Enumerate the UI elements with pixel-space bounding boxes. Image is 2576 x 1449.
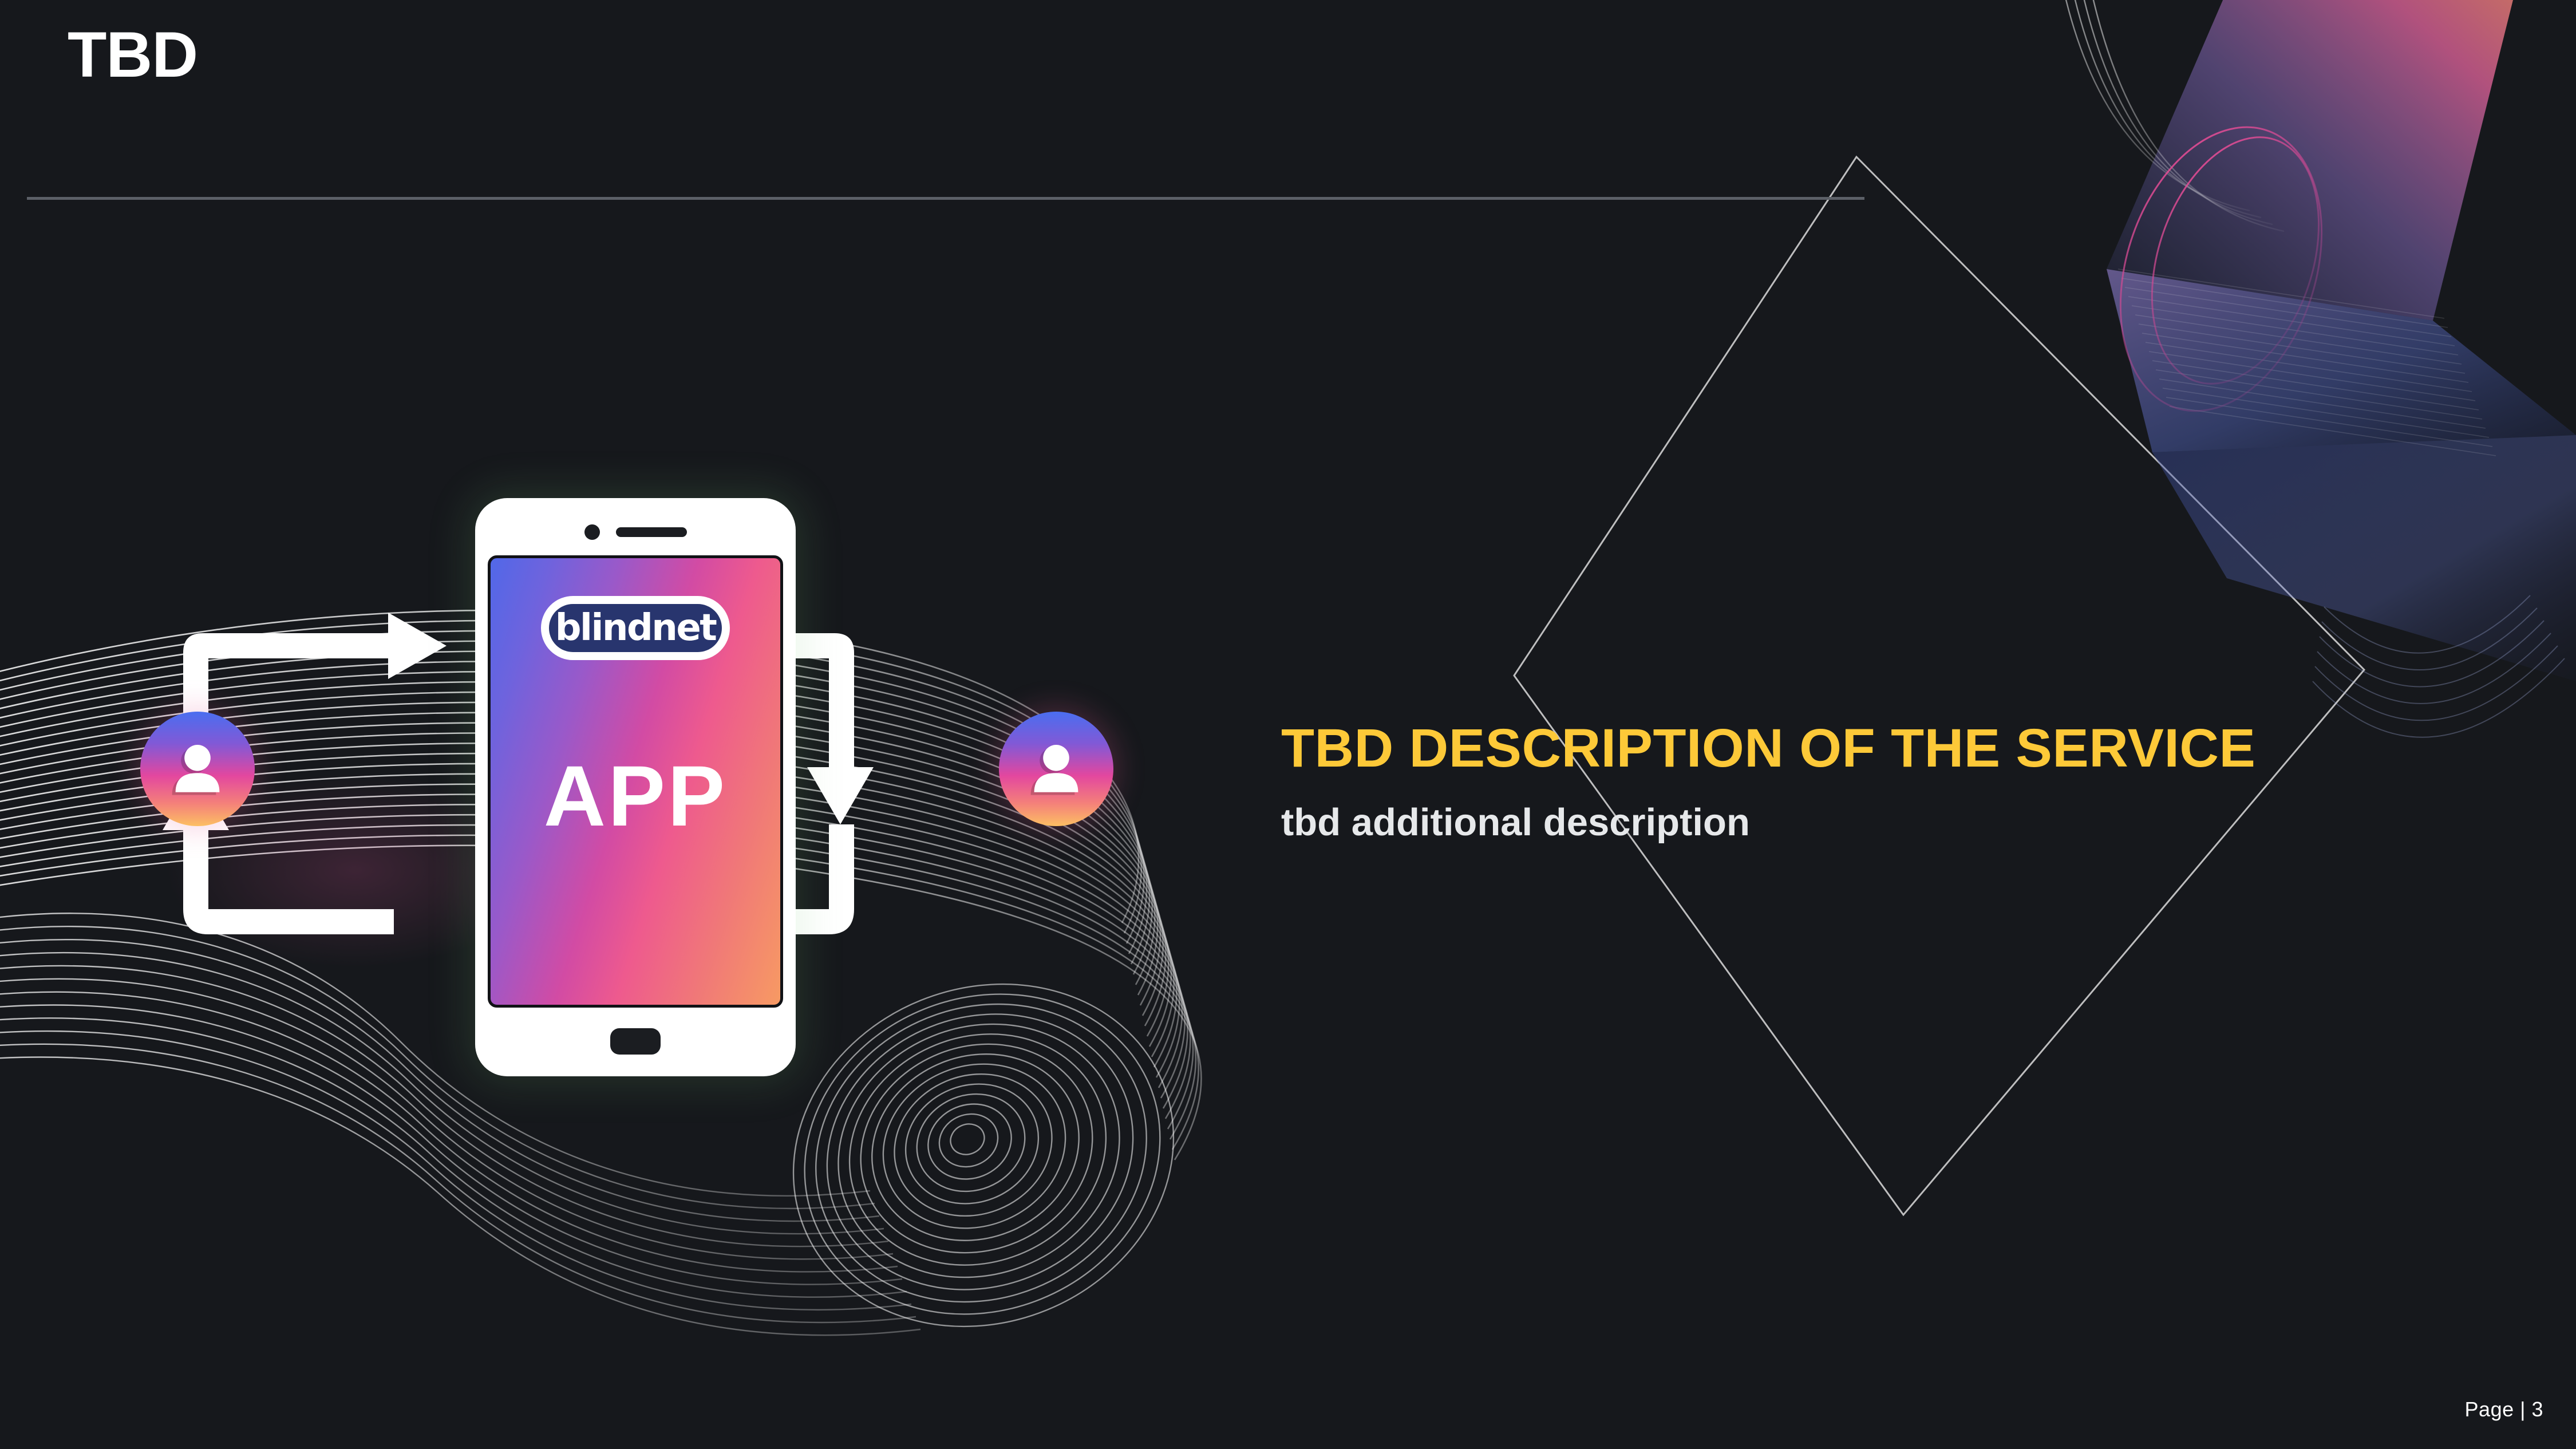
phone-screen: blindnet APP bbox=[488, 555, 783, 1008]
phone-mockup: blindnet APP bbox=[475, 498, 796, 1076]
phone-top-hardware bbox=[475, 522, 796, 542]
service-description-heading: TBD DESCRIPTION OF THE SERVICE bbox=[1281, 720, 2541, 777]
avatar bbox=[999, 712, 1113, 826]
service-description-subheading: tbd additional description bbox=[1281, 802, 2541, 844]
brand-logo-badge: blindnet bbox=[541, 596, 730, 660]
header-divider bbox=[27, 197, 1864, 200]
copy-block: TBD DESCRIPTION OF THE SERVICE tbd addit… bbox=[1281, 720, 2541, 843]
page-number-footer: Page | 3 bbox=[2465, 1397, 2543, 1422]
app-label: APP bbox=[491, 753, 780, 839]
user-avatar-icon bbox=[1022, 735, 1091, 803]
user-avatar-icon bbox=[163, 735, 232, 803]
page-title: TBD bbox=[68, 23, 197, 87]
brand-name-label: blindnet bbox=[555, 610, 716, 646]
phone-speaker-grille bbox=[616, 527, 687, 537]
phone-camera-icon bbox=[584, 524, 600, 540]
avatar bbox=[140, 712, 255, 826]
phone-home-button bbox=[610, 1028, 661, 1055]
presentation-slide: TBD bbox=[0, 0, 2576, 1449]
